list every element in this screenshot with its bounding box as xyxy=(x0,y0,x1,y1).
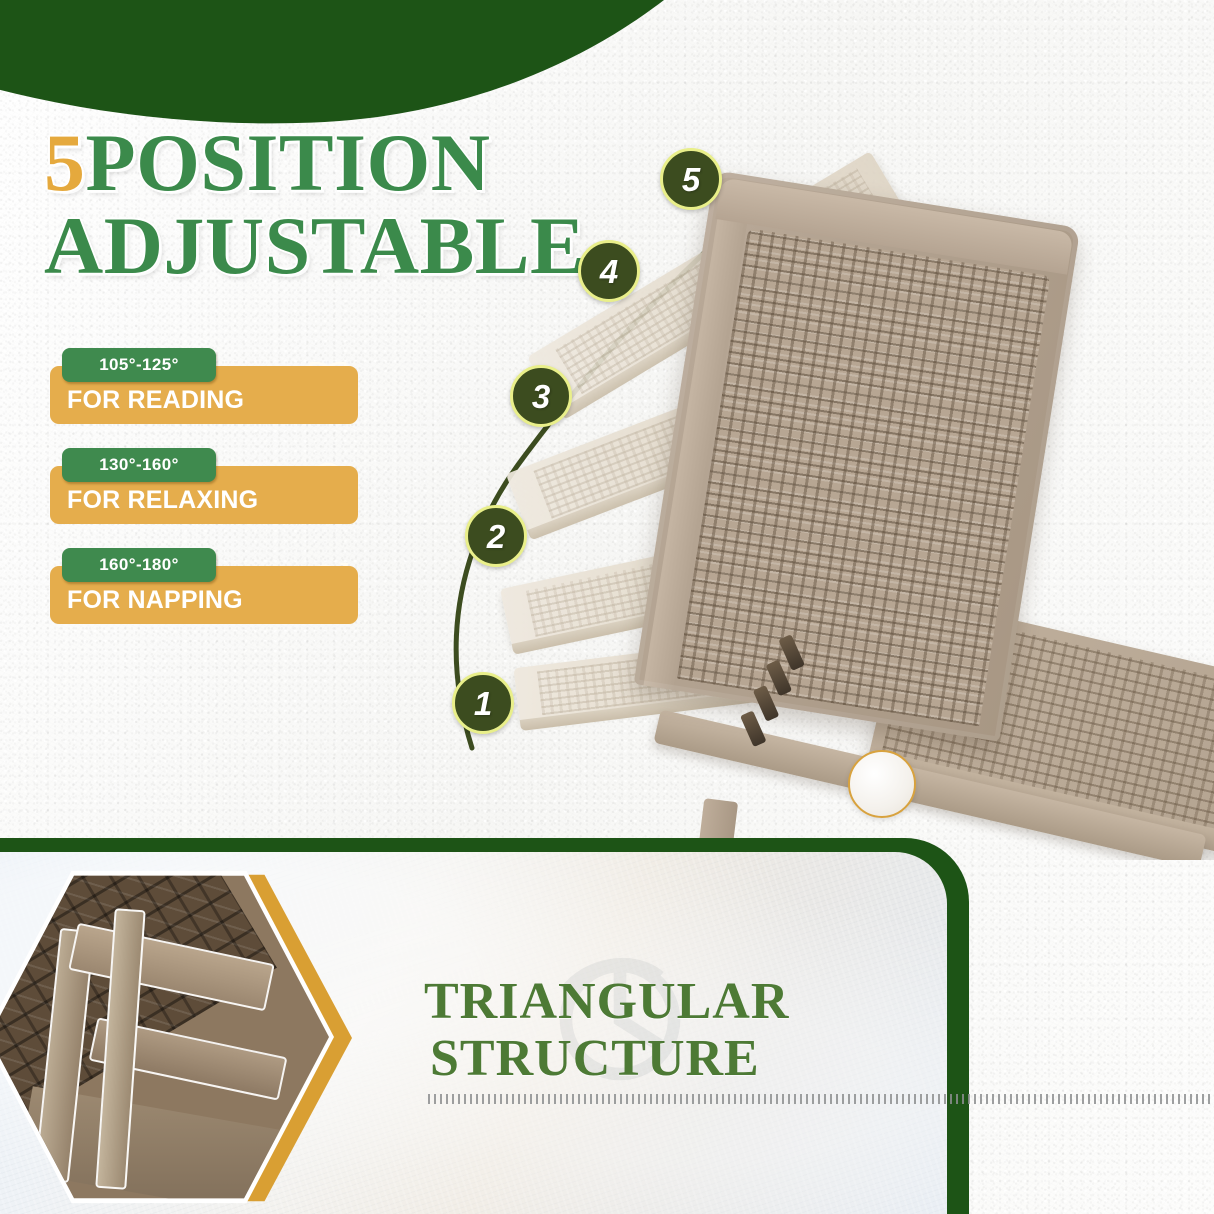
badge-angle-range: 105°-125° xyxy=(99,355,179,375)
bottom-title-line-2: STRUCTURE xyxy=(430,1032,894,1085)
badge-angle-tab: 130°-160° xyxy=(62,448,216,482)
badge-label: FOR NAPPING xyxy=(67,586,243,615)
infographic-canvas: 5POSITION ADJUSTABLE 1 xyxy=(0,0,1214,1214)
angle-badge-reading: FOR READING 105°-125° xyxy=(50,348,370,426)
triangular-structure-photo xyxy=(0,856,370,1214)
angle-badge-list: FOR READING 105°-125° FOR xyxy=(50,348,370,648)
bottom-title-line-1: TRIANGULAR xyxy=(424,975,894,1028)
position-marker-5: 5 xyxy=(660,148,722,210)
bottom-title-dashed-rule xyxy=(428,1094,1214,1104)
marker-label: 3 xyxy=(532,380,550,413)
position-marker-2: 2 xyxy=(465,505,527,567)
marker-label: 1 xyxy=(474,687,492,720)
badge-angle-tab: 160°-180° xyxy=(62,548,216,582)
position-marker-1: 1 xyxy=(452,672,514,734)
marker-label: 4 xyxy=(600,255,618,288)
bottom-section-title: TRIANGULAR STRUCTURE xyxy=(424,975,894,1085)
badge-angle-range: 130°-160° xyxy=(99,455,179,475)
badge-label: FOR READING xyxy=(67,386,244,415)
badge-label: FOR RELAXING xyxy=(67,486,258,515)
position-marker-3: 3 xyxy=(510,365,572,427)
marker-label: 5 xyxy=(682,163,700,196)
angle-badge-napping: FOR NAPPING 160°-180° xyxy=(50,548,370,626)
marker-label: 2 xyxy=(487,520,505,553)
badge-angle-tab: 105°-125° xyxy=(62,348,216,382)
position-marker-4: 4 xyxy=(578,240,640,302)
badge-angle-range: 160°-180° xyxy=(99,555,179,575)
detail-highlight-circle xyxy=(848,750,916,818)
angle-badge-relaxing: FOR RELAXING 130°-160° xyxy=(50,448,370,526)
